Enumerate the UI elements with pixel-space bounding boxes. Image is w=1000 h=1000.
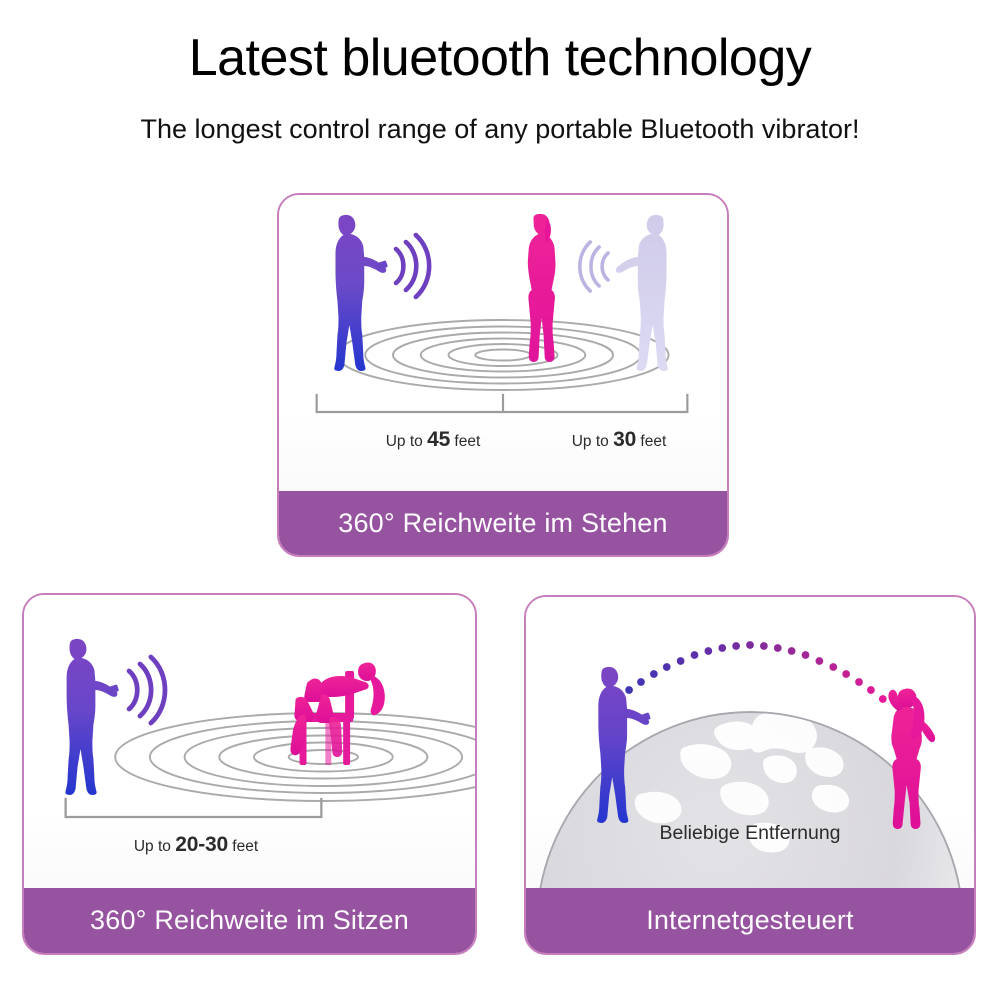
figure-man-with-phone: [65, 639, 165, 795]
globe-caption: Beliebige Entfernung: [526, 822, 974, 845]
card-standing-range: Up to 45 feet Up to 30 feet 360° Reichwe…: [277, 193, 729, 557]
card-seated-range: Up to 20-30 feet 360° Reichweite im Sitz…: [22, 593, 477, 955]
card-internet-range: Beliebige Entfernung Internetgesteuert: [524, 595, 976, 955]
card-internet-footer: Internetgesteuert: [526, 888, 974, 953]
measure-suffix: feet: [454, 433, 480, 450]
card-standing-illustration: Up to 45 feet Up to 30 feet: [279, 195, 727, 493]
measure-prefix: Up to: [134, 838, 171, 855]
measurement-bracket: [317, 395, 688, 412]
wifi-arcs-faded: [580, 242, 608, 291]
measure-value: 45: [427, 428, 450, 451]
page-subtitle: The longest control range of any portabl…: [0, 114, 1000, 145]
card-seated-footer: 360° Reichweite im Sitzen: [24, 888, 475, 953]
card-standing-footer: 360° Reichweite im Stehen: [279, 491, 727, 555]
wifi-arcs: [396, 235, 429, 297]
measurement-label-right: Up to 30 feet: [543, 428, 695, 452]
figure-man-with-phone: [334, 215, 429, 371]
measure-suffix: feet: [232, 838, 258, 855]
scene-globe: [526, 597, 974, 892]
measure-suffix: feet: [640, 433, 666, 450]
card-standing-footer-label: 360° Reichweite im Stehen: [338, 508, 667, 539]
measurement-label-left: Up to 45 feet: [357, 428, 509, 452]
card-internet-footer-label: Internetgesteuert: [646, 905, 854, 936]
measure-prefix: Up to: [572, 433, 609, 450]
measure-value: 20-30: [175, 833, 228, 856]
wifi-arcs: [129, 657, 165, 723]
measure-value: 30: [613, 428, 636, 451]
card-seated-illustration: Up to 20-30 feet: [24, 595, 475, 892]
measure-prefix: Up to: [386, 433, 423, 450]
page-title: Latest bluetooth technology: [0, 28, 1000, 88]
card-internet-illustration: Beliebige Entfernung: [526, 597, 974, 892]
ripple-rings: [337, 320, 668, 390]
measurement-label: Up to 20-30 feet: [66, 833, 326, 857]
card-seated-footer-label: 360° Reichweite im Sitzen: [90, 905, 409, 936]
dotted-arc: [613, 641, 894, 703]
infographic-page: Latest bluetooth technology The longest …: [0, 0, 1000, 1000]
measurement-bracket: [66, 799, 322, 817]
figure-man-with-phone-faded: [580, 215, 668, 371]
